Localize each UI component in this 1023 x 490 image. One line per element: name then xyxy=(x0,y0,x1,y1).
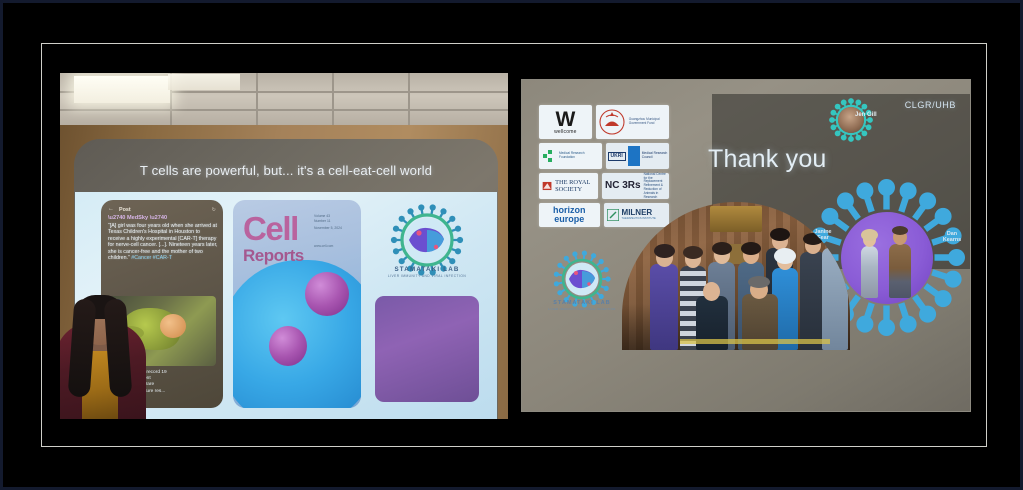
post-nav-label: Post xyxy=(119,207,131,213)
lab-logo-name: STAMATAKI LAB xyxy=(375,266,479,273)
collaborator-tag: CLGR/UHB xyxy=(905,100,956,110)
jen-gill-portrait xyxy=(829,98,873,142)
ceiling-light-secondary xyxy=(168,74,240,90)
presenter-silhouette xyxy=(60,279,146,419)
post-username-text: MedSky xyxy=(127,215,148,221)
back-arrow-icon: ← xyxy=(108,206,114,212)
journal-meta: Volume 43 Number 11 November 5, 2024 xyxy=(314,214,354,231)
right-projection-screen: CLGR/UHB Thank you W wellcome Guangzhou … xyxy=(521,79,971,412)
lab-logo-tagline-right: LIVER IMMUNITY AND VIRAL INFECTION xyxy=(544,307,620,311)
guangzhou-crest-icon xyxy=(599,109,625,135)
refresh-icon: ↻ xyxy=(212,207,216,213)
funder-logo-mrc: UKRI Medical Research Council xyxy=(606,143,669,169)
dan-kearns-label: Dan Kearns xyxy=(929,231,971,244)
cell-reports-journal-cover: Cell Reports Volume 43 Number 11 Novembe… xyxy=(233,200,361,408)
conference-room-photo: T cells are powerful, but... it's a cell… xyxy=(0,0,1023,490)
funder-logo-nc3rs: NC 3Rs National Centre for the Replaceme… xyxy=(602,173,669,199)
funder-logo-guangzhou: Guangzhou Municipal Government Fund xyxy=(596,105,669,139)
post-body-text: “[A] girl was four years old when she ar… xyxy=(108,223,218,261)
royal-society-crest-icon xyxy=(542,178,552,194)
ceiling xyxy=(60,73,508,131)
team-photo-left xyxy=(375,296,479,402)
ceiling-light xyxy=(74,76,170,103)
funder-logo-mrf: Medical Research Foundation xyxy=(539,143,602,169)
thank-you-heading: Thank you xyxy=(708,145,827,174)
journal-subtitle: Reports xyxy=(243,246,304,266)
left-slide-title: T cells are powerful, but... it's a cell… xyxy=(74,163,498,178)
funder-logo-wellcome: W wellcome xyxy=(539,105,592,139)
post-username: \u2740 MedSky \u2740 xyxy=(108,215,167,221)
journal-url: www.cell.com xyxy=(314,244,354,248)
lab-logo-tagline: LIVER IMMUNITY AND VIRAL INFECTION xyxy=(375,274,479,278)
journal-title: Cell xyxy=(243,214,298,243)
post-tag-cart: #CAR-T xyxy=(153,255,172,261)
jen-gill-label: Jen Gill xyxy=(855,112,877,118)
mrf-mark-icon xyxy=(542,149,556,163)
lab-logo-name-right: STAMATAKI LAB xyxy=(544,300,620,306)
milner-mark-icon xyxy=(607,209,619,221)
post-header: ← Post ↻ xyxy=(101,203,223,215)
collaborator-photo xyxy=(841,212,933,304)
left-projection-photo: T cells are powerful, but... it's a cell… xyxy=(60,73,508,419)
stamataki-lab-logo-right: STAMATAKI LAB LIVER IMMUNITY AND VIRAL I… xyxy=(544,250,620,324)
funder-logo-horizon-europe: horizon europe xyxy=(539,203,600,227)
funder-logo-royal-society: THE ROYAL SOCIETY xyxy=(539,173,598,199)
post-tag-cancer: #Cancer xyxy=(131,255,151,261)
stamataki-lab-logo: STAMATAKI LAB LIVER IMMUNITY AND VIRAL I… xyxy=(375,202,479,290)
group-photo-arch xyxy=(622,202,850,350)
